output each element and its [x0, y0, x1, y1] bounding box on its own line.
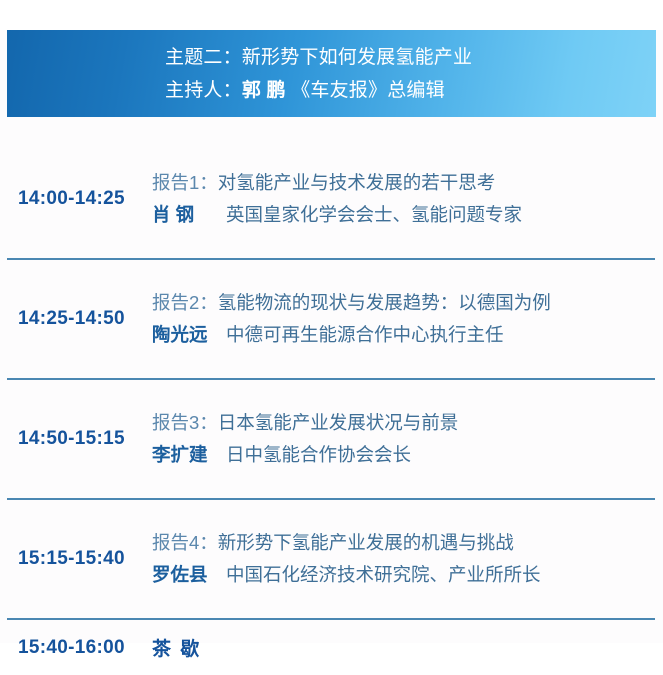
- session-title-line: 报告1：对氢能产业与技术发展的若干思考: [152, 167, 663, 199]
- session-time: 15:15-15:40: [0, 548, 152, 570]
- speaker-name: 罗佐县: [152, 559, 218, 591]
- session-speaker-line: 陶光远中德可再生能源合作中心执行主任: [152, 319, 663, 351]
- session-speaker-line: 李扩建日中氢能合作协会会长: [152, 439, 663, 471]
- report-label: 报告4：: [152, 532, 218, 553]
- session-title-line: 报告4：新形势下氢能产业发展的机遇与挑战: [152, 527, 663, 559]
- session-title-line: 报告3：日本氢能产业发展状况与前景: [152, 407, 663, 439]
- session-time: 14:50-15:15: [0, 428, 152, 450]
- host-title: 《车友报》总编辑: [291, 80, 445, 101]
- report-label: 报告2：: [152, 292, 218, 313]
- speaker-org: 日中氢能合作协会会长: [226, 444, 411, 465]
- break-time: 15:40-16:00: [0, 637, 152, 659]
- session-time: 14:00-14:25: [0, 188, 152, 210]
- speaker-name: 李扩建: [152, 439, 218, 471]
- table-row: 15:15-15:40 报告4：新形势下氢能产业发展的机遇与挑战 罗佐县中国石化…: [0, 500, 663, 618]
- table-row: 14:00-14:25 报告1：对氢能产业与技术发展的若干思考 肖 钢英国皇家化…: [0, 140, 663, 258]
- report-title: 氢能物流的现状与发展趋势：以德国为例: [218, 292, 551, 313]
- top-spacer: [0, 0, 663, 30]
- agenda-schedule: 主题二：新形势下如何发展氢能产业 主持人：郭 鹏 《车友报》总编辑 14:00-…: [0, 0, 663, 643]
- session-time: 14:25-14:50: [0, 308, 152, 330]
- session-info: 报告1：对氢能产业与技术发展的若干思考 肖 钢英国皇家化学会会士、氢能问题专家: [152, 167, 663, 231]
- speaker-org: 中国石化经济技术研究院、产业所所长: [226, 564, 541, 585]
- session-title-line: 报告2：氢能物流的现状与发展趋势：以德国为例: [152, 287, 663, 319]
- break-label: 茶 歇: [152, 639, 201, 660]
- report-title: 日本氢能产业发展状况与前景: [218, 412, 459, 433]
- break-info: 茶 歇: [152, 634, 663, 661]
- session-info: 报告2：氢能物流的现状与发展趋势：以德国为例 陶光远中德可再生能源合作中心执行主…: [152, 287, 663, 351]
- host-name: 郭 鹏: [242, 80, 286, 101]
- banner-spacer: [0, 117, 663, 140]
- table-row: 14:25-14:50 报告2：氢能物流的现状与发展趋势：以德国为例 陶光远中德…: [0, 260, 663, 378]
- report-label: 报告1：: [152, 172, 218, 193]
- session-speaker-line: 肖 钢英国皇家化学会会士、氢能问题专家: [152, 199, 663, 231]
- session-theme-banner: 主题二：新形势下如何发展氢能产业 主持人：郭 鹏 《车友报》总编辑: [7, 30, 656, 117]
- table-row: 14:50-15:15 报告3：日本氢能产业发展状况与前景 李扩建日中氢能合作协…: [0, 380, 663, 498]
- host-line: 主持人：郭 鹏 《车友报》总编辑: [165, 74, 656, 107]
- speaker-org: 英国皇家化学会会士、氢能问题专家: [226, 204, 522, 225]
- report-title: 新形势下氢能产业发展的机遇与挑战: [218, 532, 514, 553]
- theme-text: 主题二：新形势下如何发展氢能产业: [165, 47, 472, 68]
- table-row-break: 15:40-16:00 茶 歇: [0, 620, 663, 675]
- speaker-org: 中德可再生能源合作中心执行主任: [226, 324, 504, 345]
- session-speaker-line: 罗佐县中国石化经济技术研究院、产业所所长: [152, 559, 663, 591]
- session-info: 报告3：日本氢能产业发展状况与前景 李扩建日中氢能合作协会会长: [152, 407, 663, 471]
- speaker-name: 肖 钢: [152, 199, 218, 231]
- report-label: 报告3：: [152, 412, 218, 433]
- host-prefix: 主持人：: [165, 80, 242, 101]
- theme-line: 主题二：新形势下如何发展氢能产业: [165, 41, 656, 74]
- speaker-name: 陶光远: [152, 319, 218, 351]
- report-title: 对氢能产业与技术发展的若干思考: [218, 172, 496, 193]
- session-info: 报告4：新形势下氢能产业发展的机遇与挑战 罗佐县中国石化经济技术研究院、产业所所…: [152, 527, 663, 591]
